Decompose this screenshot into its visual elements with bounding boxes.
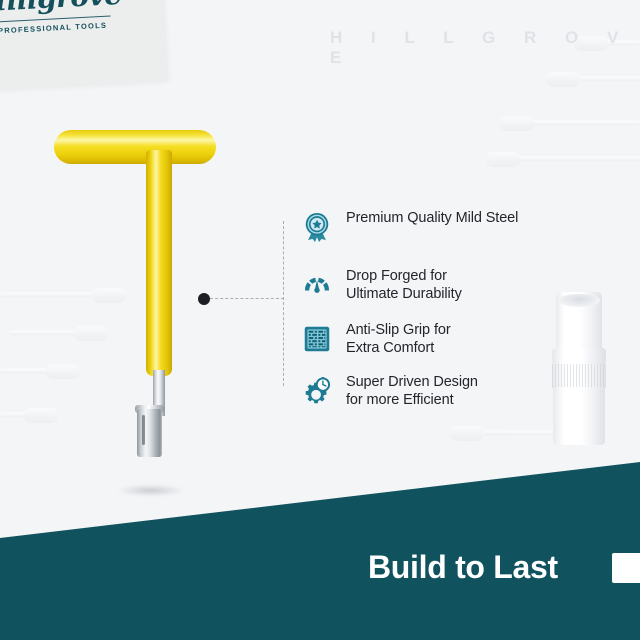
brand-logo-card: Hillgrove PROFESSIONAL TOOLS xyxy=(0,0,168,91)
callout-vertical-line xyxy=(283,221,284,386)
product-socket-head xyxy=(137,409,162,457)
feature-label: Super Driven Design for more Efficient xyxy=(346,370,478,410)
ghost-tool xyxy=(0,368,78,375)
product-handle-stem xyxy=(146,150,172,376)
banner-accent-block xyxy=(612,553,640,583)
ghost-tool xyxy=(0,412,56,419)
feature-label: Drop Forged for Ultimate Durability xyxy=(346,264,462,304)
ghost-tool xyxy=(452,430,592,437)
quality-badge-icon xyxy=(296,206,338,248)
product-socket-lip xyxy=(135,405,164,413)
ghost-tool xyxy=(548,76,640,83)
ghost-tool xyxy=(10,330,106,337)
product-marketing-image: Hillgrove PROFESSIONAL TOOLS H I L L G R… xyxy=(0,0,640,640)
ghost-tool xyxy=(0,292,124,299)
brand-tagline: PROFESSIONAL TOOLS xyxy=(0,20,125,37)
feature-item: Drop Forged for Ultimate Durability xyxy=(296,264,586,306)
ghost-tool xyxy=(502,120,640,127)
brand-watermark: H I L L G R O V E xyxy=(330,28,640,68)
grip-texture-icon xyxy=(296,318,338,360)
callout-horizontal-line xyxy=(210,298,284,299)
feature-label: Premium Quality Mild Steel xyxy=(346,206,518,227)
ghost-tool xyxy=(488,156,640,163)
feature-label: Anti-Slip Grip for Extra Comfort xyxy=(346,318,451,358)
feature-item: Premium Quality Mild Steel xyxy=(296,206,586,248)
product-handle-bar xyxy=(54,130,216,164)
brand-wordmark: Hillgrove xyxy=(0,0,124,16)
feature-item: Super Driven Design for more Efficient xyxy=(296,370,586,412)
product-shaft xyxy=(153,370,165,416)
feature-item: Anti-Slip Grip for Extra Comfort xyxy=(296,318,586,360)
feature-list: Premium Quality Mild Steel Drop Forged f… xyxy=(296,206,586,426)
banner-headline: Build to Last xyxy=(368,549,558,586)
gear-timer-icon xyxy=(296,370,338,412)
gauge-icon xyxy=(296,264,338,306)
product-drop-shadow xyxy=(118,485,184,496)
callout-anchor-dot xyxy=(198,293,210,305)
